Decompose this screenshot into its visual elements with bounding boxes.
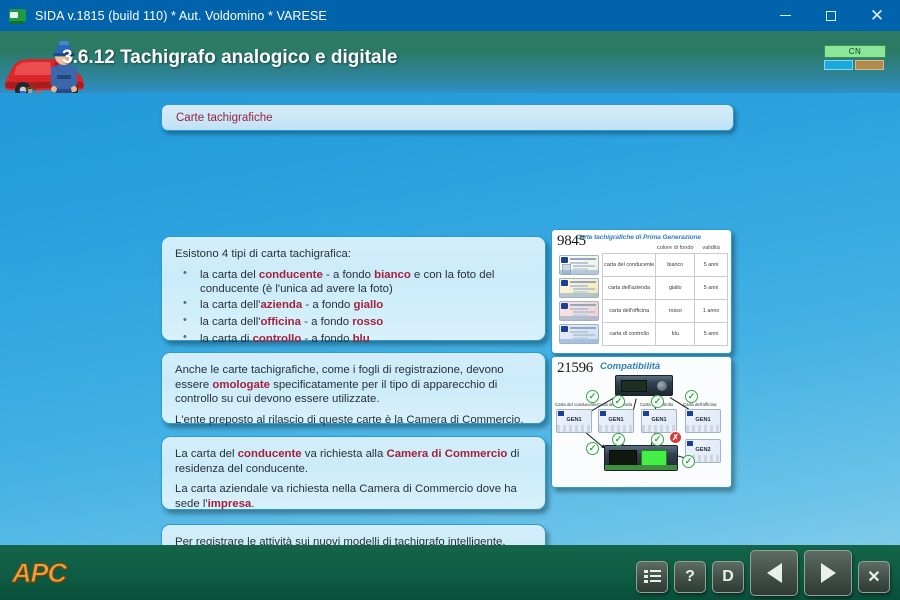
card-name: carta di controllo: [603, 323, 656, 346]
card-validity: 5 anni: [695, 323, 728, 346]
previous-button[interactable]: [750, 550, 798, 596]
paragraph: La carta aziendale va richiesta nella Ca…: [175, 482, 532, 511]
title-bar: SIDA v.1815 (build 110) * Aut. Voldomino…: [0, 0, 900, 31]
check-icon: ✓: [685, 390, 698, 403]
footer-bar: APC ? D ✕: [0, 545, 900, 600]
badge-box-left: [824, 60, 853, 70]
check-icon: ✓: [612, 433, 625, 446]
paragraph: La carta del conducente va richiesta all…: [175, 447, 532, 476]
application-window: SIDA v.1815 (build 110) * Aut. Voldomino…: [0, 0, 900, 600]
panel2-overlay-number: 21596: [557, 360, 593, 377]
check-icon: ✓: [682, 455, 695, 468]
card-image-rosso: [559, 301, 599, 321]
gen-label: GEN1: [686, 417, 720, 423]
paragraph: L'ente preposto al rilascio di queste ca…: [175, 413, 532, 428]
section-tab[interactable]: Carte tachigrafiche: [161, 104, 734, 131]
panel1-overlay-number: 9845: [557, 233, 586, 250]
box1-intro: Esistono 4 tipi di carta tachigrafica:: [175, 247, 532, 262]
badge-box-right: [855, 60, 884, 70]
card-name: carta dell'officina: [603, 300, 656, 323]
card-color: bianco: [656, 254, 695, 277]
panel2-title: Compatibilità: [600, 361, 660, 372]
status-badge: CN: [824, 45, 886, 71]
card-thumbnail-cell: [557, 277, 603, 300]
mini-card-2: GEN1: [641, 409, 677, 433]
truck-icon: [9, 9, 26, 22]
help-button[interactable]: ?: [674, 561, 706, 593]
badge-code: CN: [824, 45, 886, 58]
col-name: [603, 244, 656, 254]
mini-card-3: GEN1: [685, 409, 721, 433]
image-panel-compatibility-diagram[interactable]: 21596 Compatibilità Carta del conducente: [551, 356, 732, 488]
image-panel-first-generation-table[interactable]: 9845 Carte tachigrafiche di Prima Genera…: [551, 229, 732, 354]
check-icon: ✓: [651, 433, 664, 446]
triangle-right-icon: [821, 563, 836, 583]
page-header: 3.6.12 Tachigrafo analogico e digitale C…: [0, 31, 900, 93]
list-item: la carta del conducente - a fondo bianco…: [175, 268, 532, 296]
first-generation-cards-table: colore di fondo validità carta del condu…: [557, 244, 728, 346]
content-area: Carte tachigrafiche Esistono 4 tipi di c…: [0, 93, 900, 545]
badge-sub-boxes: [824, 60, 886, 70]
card-thumbnail-cell: [557, 323, 603, 346]
window-title: SIDA v.1815 (build 110) * Aut. Voldomino…: [35, 9, 327, 23]
card-validity: 1 anno: [695, 300, 728, 323]
card-name: carta dell'azienda: [603, 277, 656, 300]
info-box-omologazione: Anche le carte tachigrafiche, come i fog…: [161, 352, 546, 424]
card-color: blu: [656, 323, 695, 346]
card-validity: 5 anni: [695, 254, 728, 277]
smart-tachograph-gen2-device: [604, 445, 678, 471]
section-tab-label: Carte tachigrafiche: [176, 112, 273, 124]
paragraph: Anche le carte tachigrafiche, come i fog…: [175, 363, 532, 407]
info-box-card-types: Esistono 4 tipi di carta tachigrafica: l…: [161, 236, 546, 341]
card-image-giallo: [559, 278, 599, 298]
check-icon: ✓: [586, 442, 599, 455]
card-image-blu: [559, 324, 599, 344]
card-type-list: la carta del conducente - a fondo bianco…: [175, 268, 532, 346]
digital-tachograph-gen1-device: [615, 375, 673, 396]
list-item: la carta di controllo - a fondo blu: [175, 332, 532, 346]
col-color: colore di fondo: [656, 244, 695, 254]
exit-button[interactable]: ✕: [858, 561, 890, 593]
card-validity: 5 anni: [695, 277, 728, 300]
table-row: carta del conducente bianco 5 anni: [557, 254, 728, 277]
gen-label: GEN1: [557, 417, 591, 423]
next-button[interactable]: [804, 550, 852, 596]
gen-label: GEN1: [642, 417, 676, 423]
apc-logo: APC: [12, 558, 66, 589]
card-color: giallo: [656, 277, 695, 300]
mini-card-1: GEN1: [598, 409, 634, 433]
card-label-3: Carta dell'officina: [683, 402, 716, 407]
check-icon: ✓: [651, 395, 664, 408]
gen-label: GEN2: [686, 447, 720, 453]
table-row: carta dell'officina rosso 1 anno: [557, 300, 728, 323]
card-name: carta del conducente: [603, 254, 656, 277]
page-title: 3.6.12 Tachigrafo analogico e digitale: [62, 47, 397, 69]
minimize-button[interactable]: [762, 0, 808, 31]
card-thumbnail-cell: [557, 254, 603, 277]
card-color: rosso: [656, 300, 695, 323]
table-row: carta dell'azienda giallo 5 anni: [557, 277, 728, 300]
list-icon: [644, 570, 661, 584]
window-controls: ✕: [762, 0, 900, 31]
info-box-richiesta: La carta del conducente va richiesta all…: [161, 436, 546, 510]
maximize-button[interactable]: [808, 0, 854, 31]
index-button[interactable]: [636, 561, 668, 593]
card-thumbnail-cell: [557, 300, 603, 323]
mini-card-0: GEN1: [556, 409, 592, 433]
list-item: la carta dell'azienda - a fondo giallo: [175, 298, 532, 312]
check-icon: ✓: [612, 395, 625, 408]
footer-toolbar: ? D ✕: [636, 550, 890, 596]
card-image-bianco: [559, 255, 599, 275]
panel1-title: Carte tachigrafiche di Prima Generazione: [576, 234, 728, 241]
triangle-left-icon: [767, 563, 782, 583]
close-window-button[interactable]: ✕: [854, 0, 900, 31]
col-validity: validità: [695, 244, 728, 254]
list-item: la carta dell'officina - a fondo rosso: [175, 315, 532, 329]
diagram-canvas: 21596 Compatibilità Carta del conducente: [552, 357, 731, 487]
table-row: carta di controllo blu 5 anni: [557, 323, 728, 346]
gen-label: GEN1: [599, 417, 633, 423]
dictionary-button[interactable]: D: [712, 561, 744, 593]
cross-icon: ✗: [669, 431, 682, 444]
